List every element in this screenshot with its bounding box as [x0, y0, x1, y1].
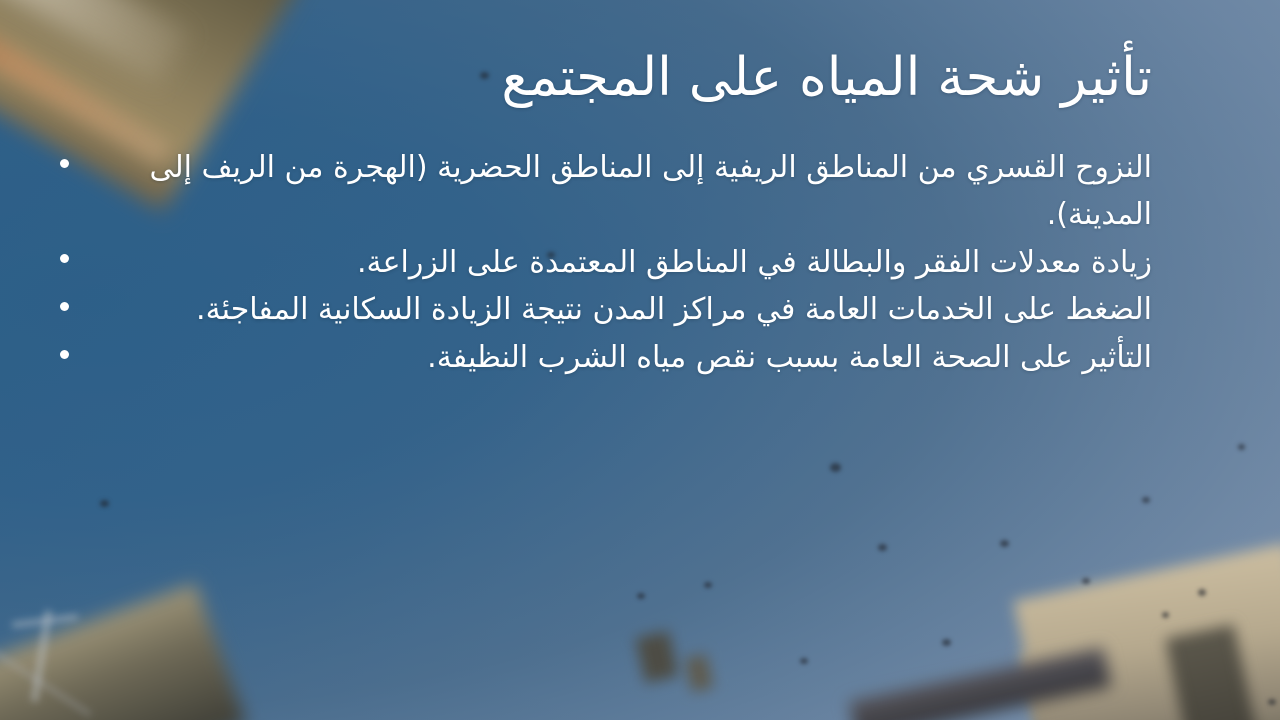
- slide-content: تأثير شحة المياه على المجتمع النزوح القس…: [0, 0, 1280, 720]
- slide-title: تأثير شحة المياه على المجتمع: [128, 48, 1152, 108]
- list-item: الضغط على الخدمات العامة في مراكز المدن …: [60, 287, 1152, 334]
- list-item: زيادة معدلات الفقر والبطالة في المناطق ا…: [60, 240, 1152, 287]
- list-item-label: الضغط على الخدمات العامة في مراكز المدن …: [60, 287, 1152, 334]
- bullet-dot-icon: [60, 254, 69, 263]
- list-item-label: التأثير على الصحة العامة بسبب نقص مياه ا…: [60, 335, 1152, 382]
- bullet-dot-icon: [60, 350, 69, 359]
- bullet-dot-icon: [60, 302, 69, 311]
- list-item-label: زيادة معدلات الفقر والبطالة في المناطق ا…: [60, 240, 1152, 287]
- slide: تأثير شحة المياه على المجتمع النزوح القس…: [0, 0, 1280, 720]
- list-item: التأثير على الصحة العامة بسبب نقص مياه ا…: [60, 335, 1152, 382]
- bullet-list: النزوح القسري من المناطق الريفية إلى الم…: [60, 145, 1152, 383]
- list-item-label: النزوح القسري من المناطق الريفية إلى الم…: [60, 145, 1152, 239]
- list-item: النزوح القسري من المناطق الريفية إلى الم…: [60, 145, 1152, 239]
